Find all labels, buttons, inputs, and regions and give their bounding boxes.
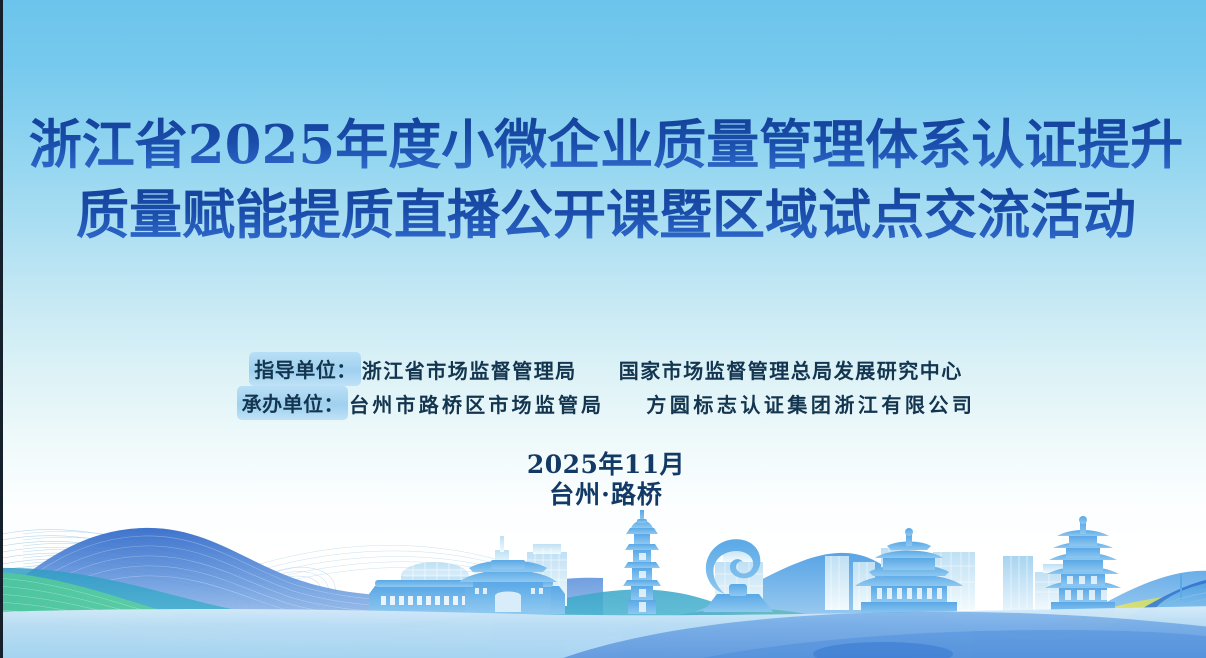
right-deep-blue-ridge bbox=[973, 578, 1206, 658]
organizer-row-guidance: 指导单位： 浙江省市场监督管理局 国家市场监督管理总局发展研究中心 bbox=[3, 352, 1206, 386]
pavilion-building bbox=[855, 528, 963, 614]
right-blue-ridge bbox=[563, 553, 1206, 658]
organizer-primary-host: 台州市路桥区市场监管局 bbox=[349, 389, 604, 418]
water-left-blob bbox=[813, 642, 953, 658]
event-date: 2025年11月 bbox=[3, 450, 1206, 480]
organizer-primary-guidance: 浙江省市场监督管理局 bbox=[362, 355, 577, 384]
water-deep-swoosh-2 bbox=[703, 630, 1206, 658]
twin-highrise bbox=[825, 548, 909, 610]
organizer-secondary-guidance: 国家市场监督管理总局发展研究中心 bbox=[619, 355, 963, 384]
organizer-block: 指导单位： 浙江省市场监督管理局 国家市场监督管理总局发展研究中心 承办单位： … bbox=[3, 352, 1206, 420]
long-low-hall-building bbox=[369, 580, 565, 614]
organizer-label-guidance: 指导单位： bbox=[249, 352, 361, 386]
skyline-mid-layer bbox=[1003, 556, 1033, 610]
tall-pagoda bbox=[623, 510, 661, 614]
title-line-2: 质量赋能提质直播公开课暨区域试点交流活动 bbox=[3, 180, 1206, 250]
date-location-block: 2025年11月 台州·路桥 bbox=[3, 450, 1206, 510]
event-city: 台州·路桥 bbox=[3, 480, 1206, 510]
mid-highrise-a bbox=[1003, 556, 1033, 610]
gate-tower-building bbox=[459, 560, 557, 612]
sculpture-monument bbox=[703, 539, 773, 612]
stepped-highrise-building bbox=[527, 544, 567, 606]
background-decoration bbox=[3, 0, 1206, 658]
wide-tower-building bbox=[715, 542, 763, 610]
poster-title: 浙江省2025年度小微企业质量管理体系认证提升 质量赋能提质直播公开课暨区域试点… bbox=[3, 110, 1206, 250]
organizer-label-host: 承办单位： bbox=[237, 386, 349, 420]
skyline-near-layer bbox=[369, 510, 1206, 618]
small-block-building bbox=[1035, 564, 1075, 610]
water-deep-swoosh bbox=[563, 612, 1206, 658]
block-highrise bbox=[933, 552, 975, 610]
tiered-pagoda bbox=[1045, 516, 1121, 614]
arena-stadium bbox=[1145, 560, 1206, 618]
right-teal-yellow-ridge bbox=[623, 595, 1206, 658]
skyline-far-layer bbox=[401, 536, 1075, 610]
left-teal-ridge bbox=[3, 568, 743, 658]
title-line-1: 浙江省2025年度小微企业质量管理体系认证提升 bbox=[3, 110, 1206, 180]
water-band bbox=[3, 606, 1206, 658]
modern-tower-building bbox=[489, 536, 515, 606]
left-blue-ridge bbox=[3, 528, 603, 658]
organizer-row-host: 承办单位： 台州市路桥区市场监管局 方圆标志认证集团浙江有限公司 bbox=[3, 386, 1206, 420]
organizer-secondary-host: 方圆标志认证集团浙江有限公司 bbox=[646, 389, 975, 418]
ridge-contours bbox=[3, 578, 353, 654]
left-green-ridge bbox=[3, 572, 493, 658]
stadium-oval-building bbox=[401, 562, 469, 594]
left-contour-lines bbox=[3, 530, 771, 645]
city-skyline bbox=[369, 510, 1206, 618]
poster-canvas: 浙江省2025年度小微企业质量管理体系认证提升 质量赋能提质直播公开课暨区域试点… bbox=[0, 0, 1206, 658]
